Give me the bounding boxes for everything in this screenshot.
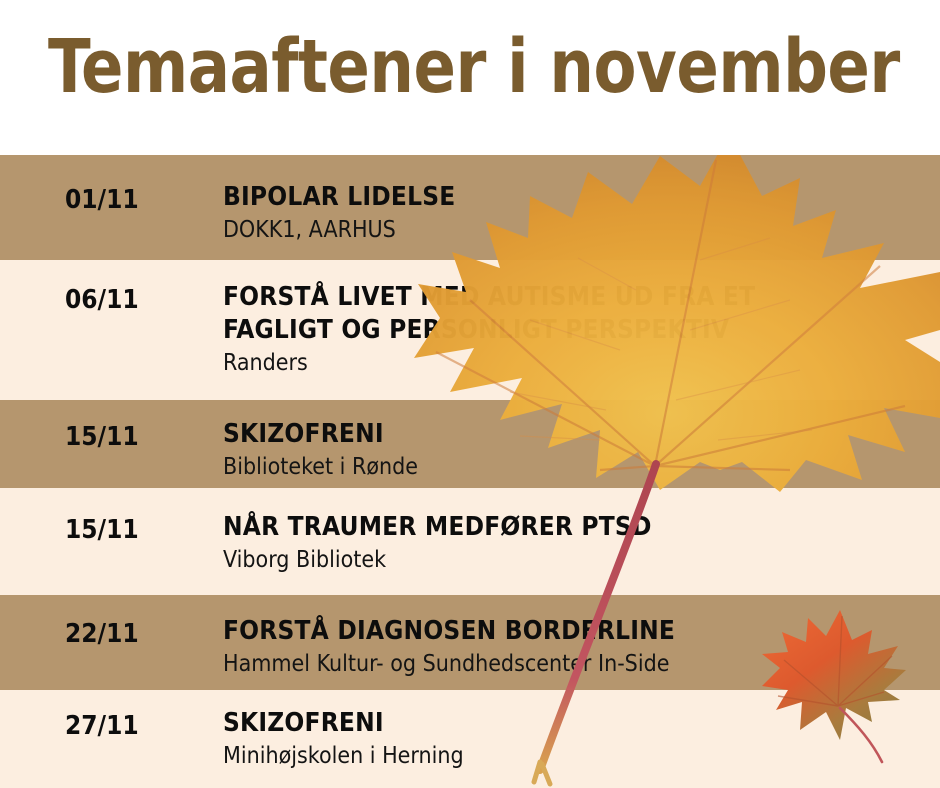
event-body: BIPOLAR LIDELSE DOKK1, AARHUS bbox=[223, 181, 930, 244]
event-body: NÅR TRAUMER MEDFØRER PTSD Viborg Bibliot… bbox=[223, 511, 930, 574]
event-venue: Hammel Kultur- og Sundhedscenter In-Side bbox=[223, 650, 930, 678]
table-row: 01/11 BIPOLAR LIDELSE DOKK1, AARHUS bbox=[0, 155, 940, 260]
table-row: 15/11 NÅR TRAUMER MEDFØRER PTSD Viborg B… bbox=[0, 488, 940, 595]
event-venue: DOKK1, AARHUS bbox=[223, 216, 930, 244]
event-title: FORSTÅ LIVET MED AUTISME UD FRA ET FAGLI… bbox=[223, 281, 930, 347]
table-row: 27/11 SKIZOFRENI Minihøjskolen i Herning bbox=[0, 690, 940, 788]
poster-header: Temaaftener i november bbox=[0, 0, 940, 155]
event-date: 01/11 bbox=[65, 185, 139, 215]
table-row: 15/11 SKIZOFRENI Biblioteket i Rønde bbox=[0, 400, 940, 488]
table-row: 22/11 FORSTÅ DIAGNOSEN BORDERLINE Hammel… bbox=[0, 595, 940, 690]
event-title: SKIZOFRENI bbox=[223, 418, 930, 451]
event-date: 06/11 bbox=[65, 285, 139, 315]
event-venue: Randers bbox=[223, 349, 930, 377]
event-title: NÅR TRAUMER MEDFØRER PTSD bbox=[223, 511, 930, 544]
page-title: Temaaftener i november bbox=[48, 28, 900, 106]
event-venue: Biblioteket i Rønde bbox=[223, 453, 930, 481]
table-row: 06/11 FORSTÅ LIVET MED AUTISME UD FRA ET… bbox=[0, 260, 940, 400]
event-title: BIPOLAR LIDELSE bbox=[223, 181, 930, 214]
event-venue: Viborg Bibliotek bbox=[223, 546, 930, 574]
event-title: FORSTÅ DIAGNOSEN BORDERLINE bbox=[223, 615, 930, 648]
event-venue: Minihøjskolen i Herning bbox=[223, 742, 930, 770]
event-date: 22/11 bbox=[65, 619, 139, 649]
event-date: 15/11 bbox=[65, 422, 139, 452]
event-body: SKIZOFRENI Biblioteket i Rønde bbox=[223, 418, 930, 481]
event-title: SKIZOFRENI bbox=[223, 707, 930, 740]
event-body: SKIZOFRENI Minihøjskolen i Herning bbox=[223, 707, 930, 770]
event-date: 27/11 bbox=[65, 711, 139, 741]
event-body: FORSTÅ DIAGNOSEN BORDERLINE Hammel Kultu… bbox=[223, 615, 930, 678]
event-body: FORSTÅ LIVET MED AUTISME UD FRA ET FAGLI… bbox=[223, 281, 930, 377]
event-date: 15/11 bbox=[65, 515, 139, 545]
poster-canvas: 01/11 BIPOLAR LIDELSE DOKK1, AARHUS 06/1… bbox=[0, 0, 940, 788]
